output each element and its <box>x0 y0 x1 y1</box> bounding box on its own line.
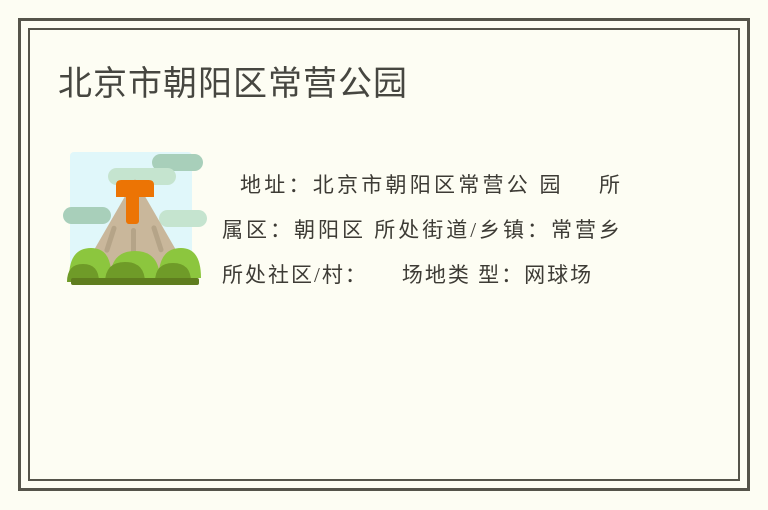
info-address-wrap: 园 <box>540 173 564 197</box>
info-venue-type-line: 型：网球场 <box>478 263 593 287</box>
volcano-icon <box>63 152 207 297</box>
park-info-card: 北京市朝阳区常营公园 <box>0 0 768 510</box>
info-address-line: 地址：北京市朝阳区常营公 <box>240 173 531 197</box>
park-info-text: 地址：北京市朝阳区常营公 园所属区：朝阳区 所处街道/乡镇：常营乡 所处社区/村… <box>222 163 622 298</box>
cloud-icon <box>159 210 207 227</box>
info-community-line: 所处社区/村： <box>222 263 368 287</box>
cloud-icon <box>63 207 111 224</box>
ground-line <box>71 278 199 285</box>
lava-flow <box>126 194 139 224</box>
page-title: 北京市朝阳区常营公园 <box>58 62 408 106</box>
info-street-line: 所处街道/乡镇：常营乡 <box>374 218 622 242</box>
info-venue-type-partial: 场地类 <box>402 263 471 287</box>
volcano-illustration <box>63 152 207 297</box>
